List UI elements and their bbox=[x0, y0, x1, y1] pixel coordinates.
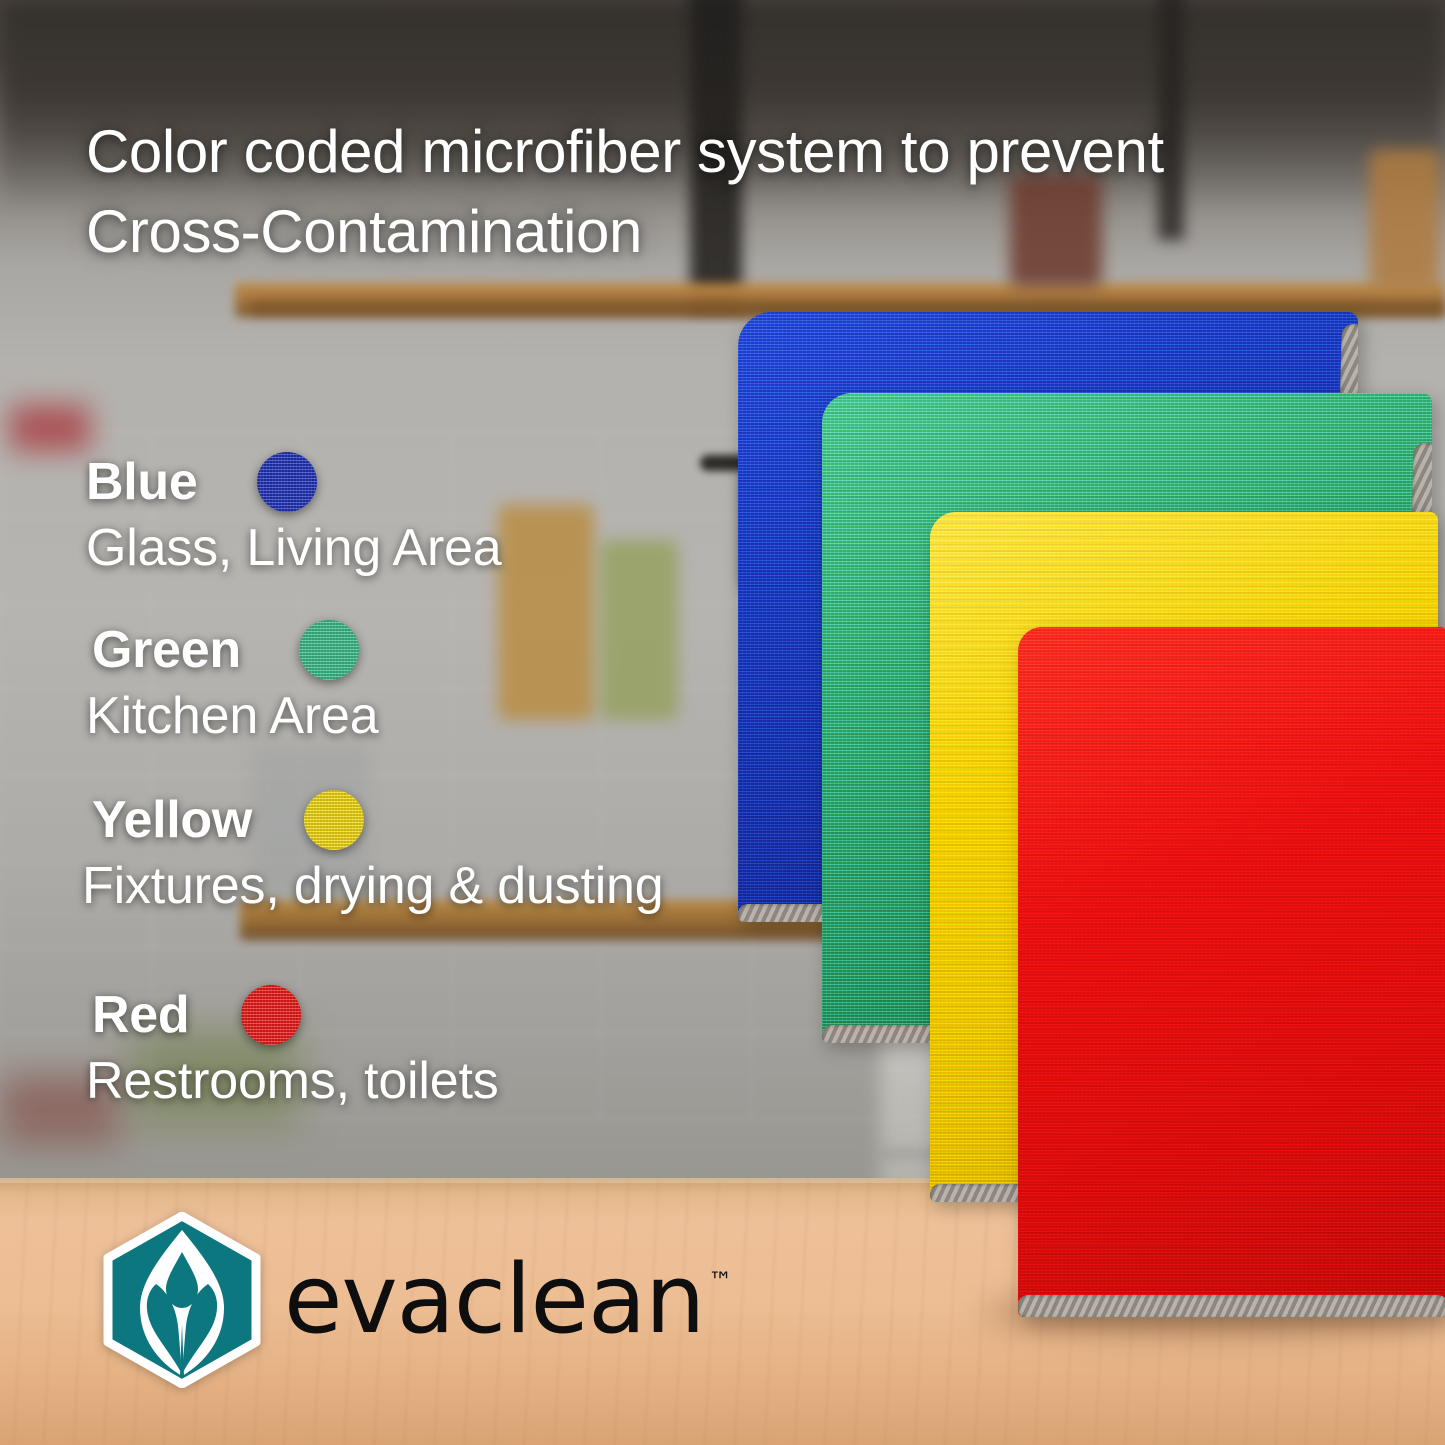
blue-swatch-icon bbox=[257, 452, 317, 512]
evaclean-hexagon-leaf-droplet-logo bbox=[98, 1212, 266, 1388]
red-swatch-icon bbox=[241, 985, 301, 1045]
legend-color-description: Kitchen Area bbox=[86, 686, 378, 746]
overlock-stitch-edge bbox=[1018, 1295, 1445, 1317]
headline-line-1: Color coded microfiber system to prevent bbox=[86, 112, 1386, 192]
legend-color-description: Restrooms, toilets bbox=[86, 1051, 499, 1111]
legend-row-yellow: Yellow Fixtures, drying & dusting bbox=[86, 790, 664, 916]
legend-row-blue: Blue Glass, Living Area bbox=[86, 452, 502, 578]
brand-logo: evaclean ™ bbox=[98, 1212, 731, 1388]
legend-row-red: Red Restrooms, toilets bbox=[86, 985, 499, 1111]
green-swatch-icon bbox=[299, 620, 359, 680]
legend-row-green: Green Kitchen Area bbox=[86, 620, 378, 746]
legend-color-name: Blue bbox=[86, 452, 197, 512]
headline-line-2: Cross-Contamination bbox=[86, 192, 1386, 272]
legend-color-name: Yellow bbox=[92, 790, 252, 850]
yellow-swatch-icon bbox=[304, 790, 364, 850]
evaclean-wordmark: evaclean ™ bbox=[284, 1253, 731, 1348]
legend-color-description: Glass, Living Area bbox=[86, 518, 502, 578]
wordmark-text: evaclean bbox=[284, 1253, 704, 1348]
cloth-texture-lines bbox=[1018, 627, 1445, 1317]
product-infographic: Color coded microfiber system to prevent… bbox=[0, 0, 1445, 1445]
legend-color-description: Fixtures, drying & dusting bbox=[82, 856, 664, 916]
trademark-symbol: ™ bbox=[708, 1269, 731, 1293]
headline: Color coded microfiber system to prevent… bbox=[86, 112, 1386, 272]
legend-color-name: Green bbox=[92, 620, 241, 680]
red-microfiber-cloth bbox=[1018, 627, 1445, 1317]
legend-color-name: Red bbox=[92, 985, 189, 1045]
